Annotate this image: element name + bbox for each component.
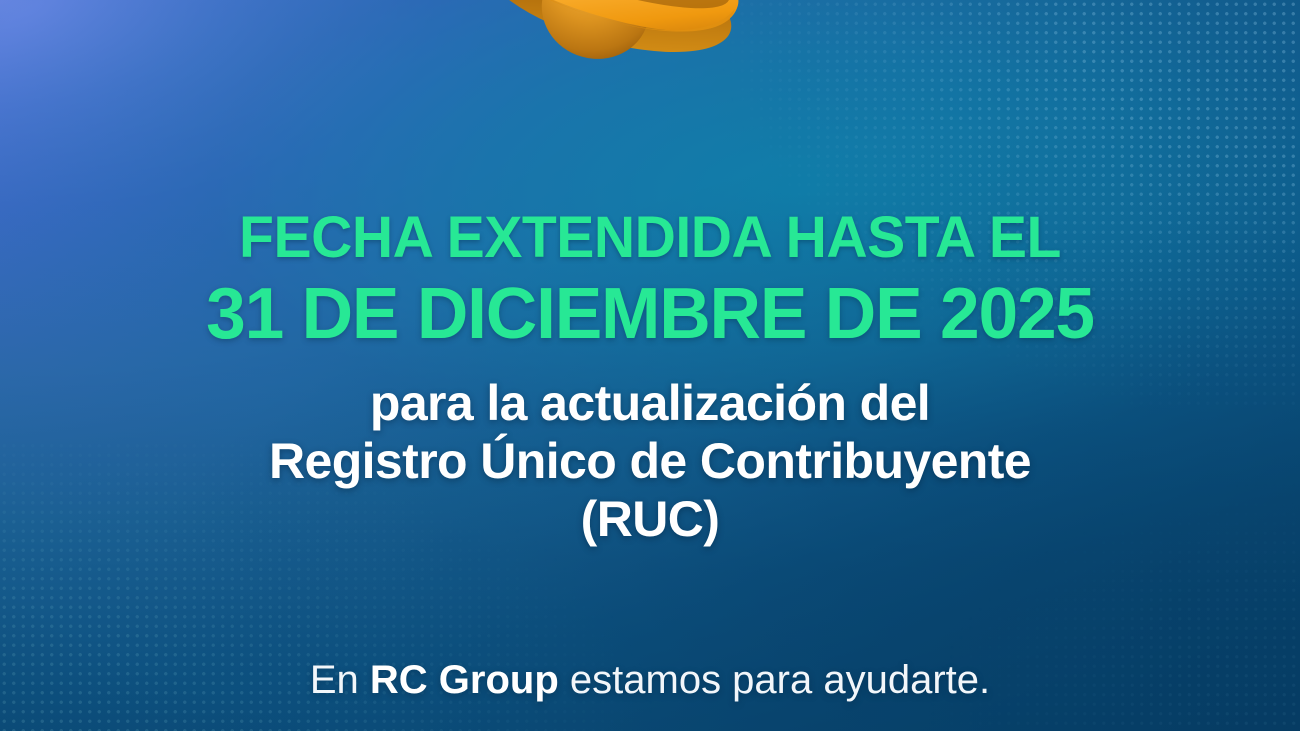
headline-line-1: FECHA EXTENDIDA HASTA EL [10,209,1291,267]
subheading-line-3: (RUC) [0,494,1300,544]
subheading-line-2: Registro Único de Contribuyente [0,436,1300,486]
promo-poster: FECHA EXTENDIDA HASTA EL 31 DE DICIEMBRE… [0,0,1300,731]
subheading-line-1: para la actualización del [0,378,1300,428]
footer-prefix: En [310,658,370,702]
brand-name: RC Group [370,658,559,702]
footer-suffix: estamos para ayudarte. [559,658,990,702]
footer-tagline: En RC Group estamos para ayudarte. [0,660,1300,700]
poster-content: FECHA EXTENDIDA HASTA EL 31 DE DICIEMBRE… [0,0,1300,731]
headline-line-2: 31 DE DICIEMBRE DE 2025 [7,278,1294,350]
